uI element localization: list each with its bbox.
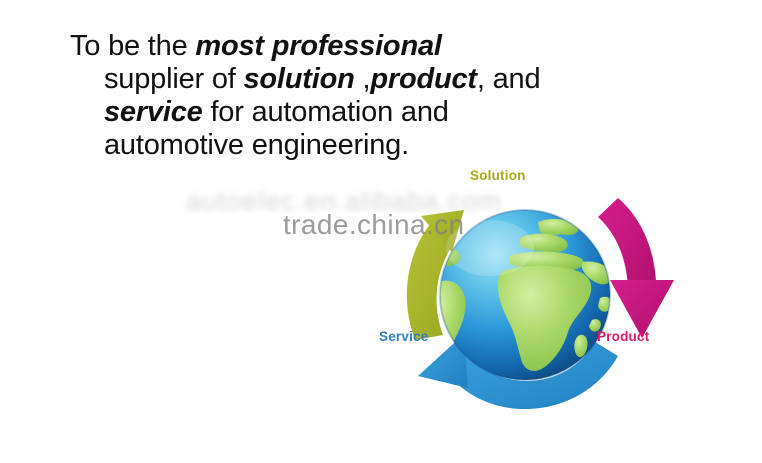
headline-emphasis-product: product [370, 63, 477, 95]
headline-emphasis-solution: solution [243, 63, 354, 95]
mission-banner: To be the most professional supplier of … [0, 0, 762, 463]
headline-line-3: service for automation and [104, 96, 630, 129]
headline-emphasis-service: service [104, 96, 203, 128]
headline-line-2: supplier of solution ,product, and [104, 63, 630, 96]
headline-text: To be the most professional supplier of … [70, 30, 630, 162]
headline-line-1: To be the most professional [70, 30, 630, 63]
globe-cycle-diagram [360, 160, 690, 430]
product-arrow-icon [598, 198, 674, 338]
headline-line-2-plain: supplier of [104, 63, 243, 95]
cycle-label-solution: Solution [470, 168, 526, 183]
headline-line-3-tail: for automation and [203, 96, 449, 128]
cycle-label-service: Service [379, 329, 428, 344]
headline-line-2-tail: , and [477, 63, 541, 95]
headline-line-1-plain: To be the [70, 30, 195, 62]
headline-emphasis-most-professional: most professional [195, 30, 441, 62]
cycle-label-product: Product [597, 329, 649, 344]
headline-line-2-comma: , [355, 63, 371, 95]
headline-line-4: automotive engineering. [104, 129, 630, 162]
